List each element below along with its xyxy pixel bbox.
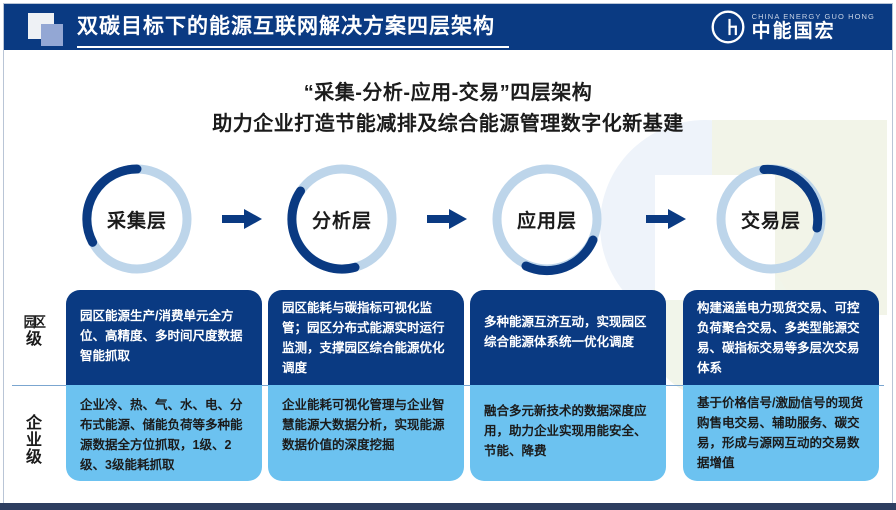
card-park-text-2: 园区能耗与碳指标可视化监管；园区分布式能源实时运行监测，支撑园区综合能源优化调度 xyxy=(268,290,464,385)
stage-circle-analyze[interactable]: 分析层 xyxy=(283,160,401,278)
page-title: 双碳目标下的能源互联网解决方案四层架构 xyxy=(77,11,495,43)
stage-card-trade[interactable]: 构建涵盖电力现货交易、可控负荷聚合交易、多类型能源交易、碳指标交易等多层次交易体… xyxy=(683,290,879,481)
stage-card-analyze[interactable]: 园区能耗与碳指标可视化监管；园区分布式能源实时运行监测，支撑园区综合能源优化调度… xyxy=(268,290,464,481)
stage-circle-apply[interactable]: 应用层 xyxy=(488,160,606,278)
card-enterprise-text-3: 融合多元新技术的数据深度应用，助力企业实现用能安全、节能、降费 xyxy=(470,385,666,481)
stage-label-trade: 交易层 xyxy=(712,160,830,278)
card-enterprise-text-1: 企业冷、热、气、水、电、分布式能源、储能负荷等多种能源数据全方位抓取，1级、2级… xyxy=(66,385,262,481)
card-park-text-3: 多种能源互济互动，实现园区综合能源体系统一优化调度 xyxy=(470,290,666,385)
brand-logo: CHINA ENERGY GUO HONG 中能国宏 xyxy=(710,8,875,46)
stage-circle-collect[interactable]: 采集层 xyxy=(78,160,196,278)
arrow-right-icon-2 xyxy=(427,207,467,231)
stage-label-collect: 采集层 xyxy=(78,160,196,278)
row-label-park-pair: 园区 xyxy=(24,314,44,331)
card-park-text-4: 构建涵盖电力现货交易、可控负荷聚合交易、多类型能源交易、碳指标交易等多层次交易体… xyxy=(683,290,879,385)
slide-header: 双碳目标下的能源互联网解决方案四层架构 CHINA ENERGY GUO HON… xyxy=(3,3,893,50)
header-square-front-icon xyxy=(41,24,63,46)
logo-chinese-text: 中能国宏 xyxy=(752,22,875,42)
slide-bottom-bar xyxy=(0,503,896,510)
row-label-enterprise-char-3: 级 xyxy=(26,449,42,466)
card-enterprise-text-4: 基于价格信号/激励信号的现货购售电交易、辅助服务、碳交易，形成与源网互动的交易数… xyxy=(683,385,879,481)
stage-label-apply: 应用层 xyxy=(488,160,606,278)
subtitle-block: “采集-分析-应用-交易”四层架构 助力企业打造节能减排及综合能源管理数字化新基… xyxy=(0,78,896,140)
logo-english-text: CHINA ENERGY GUO HONG xyxy=(752,12,875,21)
row-label-enterprise-char-2: 业 xyxy=(26,432,42,449)
stage-circle-trade[interactable]: 交易层 xyxy=(712,160,830,278)
subtitle-line-2: 助力企业打造节能减排及综合能源管理数字化新基建 xyxy=(0,108,896,140)
row-label-park: 园区 级 xyxy=(12,300,56,362)
card-enterprise-text-2: 企业能耗可视化管理与企业智慧能源大数据分析，实现能源数据价值的深度挖掘 xyxy=(268,385,464,481)
row-label-park-tail: 级 xyxy=(26,331,42,348)
stage-flow-row: 采集层 分析层 应用层 xyxy=(0,160,896,278)
row-label-enterprise-char-1: 企 xyxy=(26,415,42,432)
stage-card-apply[interactable]: 多种能源互济互动，实现园区综合能源体系统一优化调度 融合多元新技术的数据深度应用… xyxy=(470,290,666,481)
card-park-text-1: 园区能源生产/消费单元全方位、高精度、多时间尺度数据智能抓取 xyxy=(66,290,262,385)
stage-label-analyze: 分析层 xyxy=(283,160,401,278)
stage-card-collect[interactable]: 园区能源生产/消费单元全方位、高精度、多时间尺度数据智能抓取 企业冷、热、气、水… xyxy=(66,290,262,481)
header-underline xyxy=(77,46,509,48)
row-label-enterprise: 企 业 级 xyxy=(12,400,56,480)
slide-canvas: 双碳目标下的能源互联网解决方案四层架构 CHINA ENERGY GUO HON… xyxy=(0,0,896,510)
arrow-right-icon-3 xyxy=(646,207,686,231)
logo-mark-icon xyxy=(710,9,746,45)
arrow-right-icon-1 xyxy=(222,207,262,231)
subtitle-line-1: “采集-分析-应用-交易”四层架构 xyxy=(0,78,896,108)
